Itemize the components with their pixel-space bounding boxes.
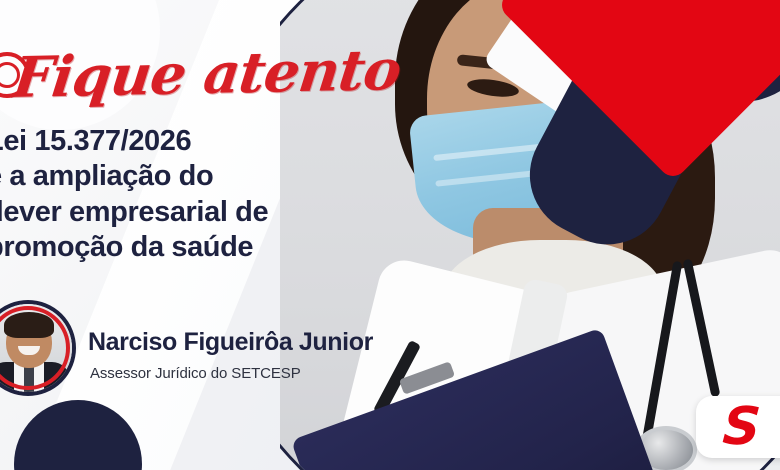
- avatar-tie: [24, 366, 34, 396]
- speaker-role: Assessor Jurídico do SETCESP: [90, 365, 301, 382]
- headline-line-4: promoção da saúde: [0, 230, 426, 265]
- headline-line-2: e a ampliação do: [0, 159, 426, 194]
- setcesp-logo: S: [696, 396, 780, 458]
- avatar-photo: [0, 304, 72, 392]
- setcesp-logo-letter: S: [721, 401, 762, 453]
- script-title: Fique atento: [10, 42, 403, 106]
- headline-line-1: Lei 15.377/2026: [0, 124, 426, 159]
- headline-line-3: dever empresarial de: [0, 195, 426, 230]
- headline: Lei 15.377/2026 e a ampliação do dever e…: [0, 124, 426, 266]
- speaker-name: Narciso Figueirôa Junior: [88, 328, 373, 357]
- avatar-hair: [4, 312, 54, 338]
- promo-banner: Fique atento Lei 15.377/2026 e a ampliaç…: [0, 0, 780, 470]
- avatar: [0, 300, 76, 396]
